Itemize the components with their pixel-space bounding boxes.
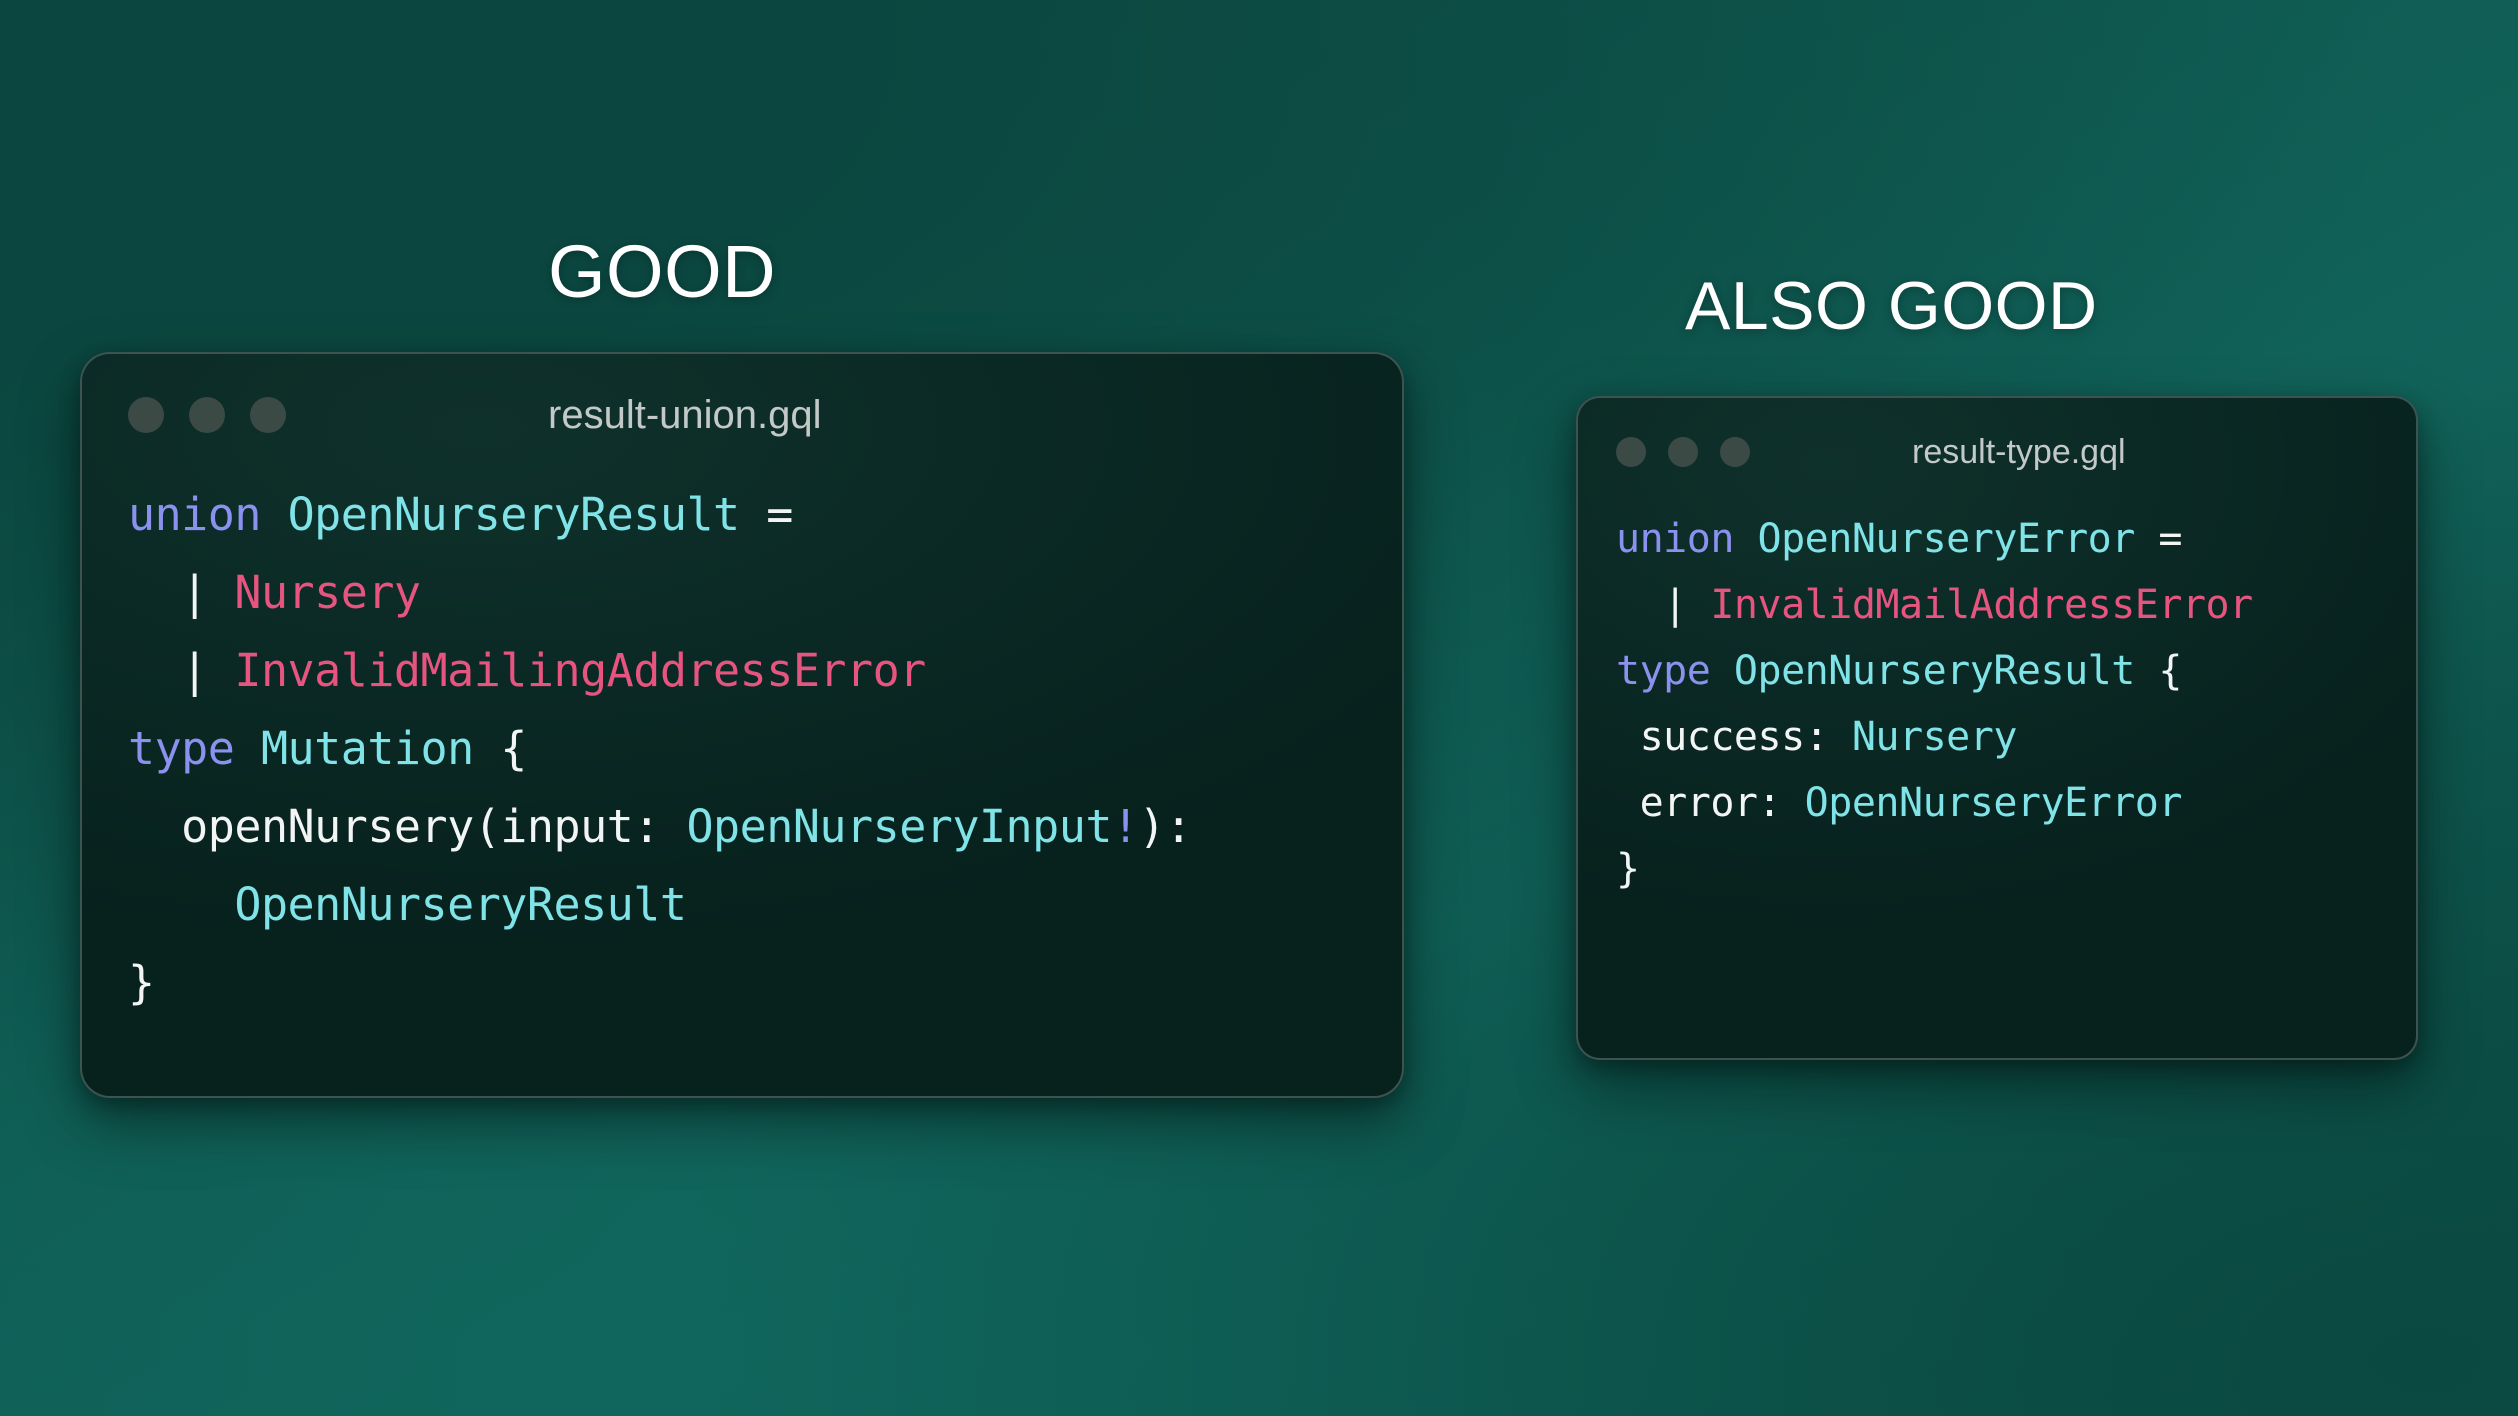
code-token-keyword: union: [1616, 516, 1758, 562]
code-token-plain: {: [474, 722, 527, 775]
traffic-light-dots: [128, 397, 311, 433]
code-line: OpenNurseryResult: [128, 866, 1356, 944]
code-token-plain: ):: [1139, 800, 1192, 853]
close-dot-icon[interactable]: [1616, 437, 1646, 467]
close-dot-icon[interactable]: [128, 397, 164, 433]
code-line: type Mutation {: [128, 710, 1356, 788]
minimize-dot-icon[interactable]: [1668, 437, 1698, 467]
code-token-type: OpenNurseryResult: [288, 488, 740, 541]
code-token-plain: =: [2135, 516, 2182, 562]
window-titlebar: result-union.gql: [82, 354, 1402, 476]
code-token-plain: =: [740, 488, 793, 541]
code-token-error: InvalidMailAddressError: [1710, 582, 2252, 628]
code-line: error: OpenNurseryError: [1616, 770, 2378, 836]
code-token-plain: [128, 878, 234, 931]
code-token-plain: }: [1616, 846, 1640, 892]
code-token-type: Mutation: [261, 722, 474, 775]
code-line: union OpenNurseryResult =: [128, 476, 1356, 554]
code-block: union OpenNurseryResult = | Nursery | In…: [82, 476, 1402, 1022]
code-line: success: Nursery: [1616, 704, 2378, 770]
code-token-keyword: union: [128, 488, 288, 541]
code-token-plain: }: [128, 956, 155, 1009]
slide-canvas: GOOD ALSO GOOD result-union.gql union Op…: [0, 0, 2518, 1416]
code-line: type OpenNurseryResult {: [1616, 638, 2378, 704]
maximize-dot-icon[interactable]: [250, 397, 286, 433]
code-line: openNursery(input: OpenNurseryInput!):: [128, 788, 1356, 866]
window-filename: result-union.gql: [548, 393, 822, 438]
code-window-also-good: result-type.gql union OpenNurseryError =…: [1576, 396, 2418, 1060]
heading-also-good: ALSO GOOD: [1685, 272, 2098, 340]
code-token-plain: |: [1616, 582, 1710, 628]
code-token-plain: |: [128, 644, 234, 697]
code-token-type: OpenNurseryError: [1758, 516, 2135, 562]
code-block: union OpenNurseryError = | InvalidMailAd…: [1578, 506, 2416, 902]
code-token-error: Nursery: [234, 566, 420, 619]
window-titlebar: result-type.gql: [1578, 398, 2416, 506]
heading-good: GOOD: [548, 235, 776, 309]
code-token-type: OpenNurseryResult: [1734, 648, 2135, 694]
code-token-plain: |: [128, 566, 234, 619]
code-token-keyword: type: [128, 722, 261, 775]
code-token-keyword: type: [1616, 648, 1734, 694]
code-token-plain: openNursery(input:: [128, 800, 686, 853]
code-token-plain: {: [2135, 648, 2182, 694]
code-line: | InvalidMailAddressError: [1616, 572, 2378, 638]
minimize-dot-icon[interactable]: [189, 397, 225, 433]
maximize-dot-icon[interactable]: [1720, 437, 1750, 467]
code-line: }: [1616, 836, 2378, 902]
window-filename: result-type.gql: [1912, 433, 2126, 472]
code-line: | InvalidMailingAddressError: [128, 632, 1356, 710]
code-token-plain: success:: [1616, 714, 1852, 760]
code-token-plain: error:: [1616, 780, 1805, 826]
code-line: | Nursery: [128, 554, 1356, 632]
code-window-good: result-union.gql union OpenNurseryResult…: [80, 352, 1404, 1098]
traffic-light-dots: [1616, 437, 1772, 467]
code-line: union OpenNurseryError =: [1616, 506, 2378, 572]
code-token-bang: !: [1112, 800, 1139, 853]
code-token-type: OpenNurseryError: [1805, 780, 2182, 826]
code-token-error: InvalidMailingAddressError: [234, 644, 925, 697]
code-token-type: OpenNurseryResult: [234, 878, 686, 931]
code-token-type: OpenNurseryInput: [686, 800, 1111, 853]
code-token-type: Nursery: [1852, 714, 2017, 760]
code-line: }: [128, 944, 1356, 1022]
